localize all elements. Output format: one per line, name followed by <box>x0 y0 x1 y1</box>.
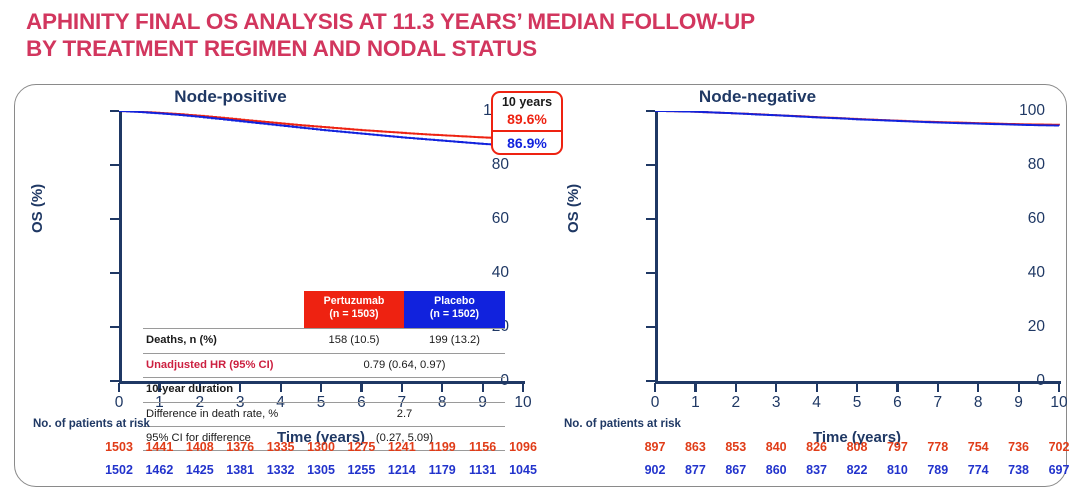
y-tick-60 <box>110 218 119 220</box>
at-risk-value: 853 <box>713 440 759 454</box>
at-risk-value: 702 <box>1036 440 1080 454</box>
at-risk-title-right: No. of patients at risk <box>564 418 681 430</box>
at-risk-value: 1241 <box>379 440 425 454</box>
at-risk-title-left: No. of patients at risk <box>33 418 150 430</box>
y-tick-40 <box>646 272 655 274</box>
at-risk-value: 1255 <box>338 463 384 477</box>
x-tick-8 <box>977 383 979 392</box>
at-risk-value: 867 <box>713 463 759 477</box>
at-risk-row-placebo-right: 902877867860837822810789774738697 <box>655 463 1059 481</box>
table-row: Difference in death rate, %2.7 <box>143 402 505 427</box>
x-tick-label-7: 7 <box>923 394 953 412</box>
y-axis-label-left: OS (%) <box>29 184 46 233</box>
table-cell-span: 2.7 <box>304 408 505 420</box>
at-risk-row-pertuzumab-right: 897863853840826808797778754736702 <box>655 440 1059 458</box>
col-n: (n = 1503) <box>304 308 404 321</box>
km-curves-node-negative <box>655 111 1061 383</box>
table-col-pertuzumab-left: Pertuzumab (n = 1503) <box>304 291 404 328</box>
x-tick-4 <box>816 383 818 392</box>
at-risk-value: 778 <box>915 440 961 454</box>
page-title-line-2: BY TREATMENT REGIMEN AND NODAL STATUS <box>26 35 1056 62</box>
chart-title-node-negative: Node-negative <box>494 87 1021 107</box>
at-risk-value: 1502 <box>96 463 142 477</box>
page-title-line-1: APHINITY FINAL OS ANALYSIS AT 11.3 YEARS… <box>26 9 755 34</box>
at-risk-value: 1408 <box>177 440 223 454</box>
at-risk-value: 1332 <box>258 463 304 477</box>
x-tick-label-10: 10 <box>1044 394 1074 412</box>
y-tick-0 <box>646 380 655 382</box>
data-table-body-left: Deaths, n (%)158 (10.5)199 (13.2)Unadjus… <box>143 328 505 451</box>
callout-10-years-node-positive: 10 years 89.6% 86.9% <box>491 91 563 155</box>
at-risk-value: 1381 <box>217 463 263 477</box>
table-cell-span: 0.79 (0.64, 0.97) <box>304 359 505 371</box>
at-risk-value: 1275 <box>338 440 384 454</box>
at-risk-value: 1425 <box>177 463 223 477</box>
at-risk-value: 774 <box>955 463 1001 477</box>
page-title: APHINITY FINAL OS ANALYSIS AT 11.3 YEARS… <box>26 8 1056 62</box>
y-tick-0 <box>110 380 119 382</box>
callout-pertuzumab-value-left: 89.6% <box>493 110 561 132</box>
at-risk-row-pertuzumab-left: 1503144114081376133513001275124111991156… <box>119 440 523 458</box>
at-risk-value: 1300 <box>298 440 344 454</box>
x-tick-10 <box>522 383 524 392</box>
y-tick-100 <box>646 110 655 112</box>
at-risk-value: 1199 <box>419 440 465 454</box>
chart-node-negative: Node-negative OS (%) 020406080100 012345… <box>532 85 1059 488</box>
at-risk-value: 1376 <box>217 440 263 454</box>
callout-header-left: 10 years <box>493 93 561 110</box>
at-risk-value: 736 <box>996 440 1042 454</box>
table-row-label: Difference in death rate, % <box>146 408 278 420</box>
at-risk-value: 863 <box>672 440 718 454</box>
y-tick-40 <box>110 272 119 274</box>
at-risk-value: 1503 <box>96 440 142 454</box>
at-risk-value: 1441 <box>136 440 182 454</box>
at-risk-value: 840 <box>753 440 799 454</box>
km-line-placebo <box>119 111 523 146</box>
table-row: 10-year duration <box>143 377 505 402</box>
at-risk-value: 822 <box>834 463 880 477</box>
table-row-label: 10-year duration <box>146 383 233 395</box>
table-col-placebo-left: Placebo (n = 1502) <box>404 291 505 328</box>
table-cell-pertuzumab: 158 (10.5) <box>304 334 404 346</box>
at-risk-value: 1305 <box>298 463 344 477</box>
y-tick-80 <box>646 164 655 166</box>
y-tick-80 <box>110 164 119 166</box>
data-table-node-positive: Pertuzumab (n = 1503) Placebo (n = 1502)… <box>143 291 505 451</box>
at-risk-value: 697 <box>1036 463 1080 477</box>
at-risk-row-placebo-left: 1502146214251381133213051255121411791131… <box>119 463 523 481</box>
at-risk-value: 797 <box>874 440 920 454</box>
at-risk-value: 1179 <box>419 463 465 477</box>
col-n: (n = 1502) <box>404 308 505 321</box>
at-risk-value: 808 <box>834 440 880 454</box>
x-tick-6 <box>896 383 898 392</box>
table-cell-placebo: 199 (13.2) <box>404 334 505 346</box>
at-risk-value: 810 <box>874 463 920 477</box>
at-risk-value: 789 <box>915 463 961 477</box>
table-row-label: Deaths, n (%) <box>146 334 217 346</box>
at-risk-value: 738 <box>996 463 1042 477</box>
at-risk-value: 1462 <box>136 463 182 477</box>
x-tick-9 <box>1018 383 1020 392</box>
y-tick-100 <box>110 110 119 112</box>
x-tick-5 <box>856 383 858 392</box>
at-risk-value: 902 <box>632 463 678 477</box>
at-risk-value: 1131 <box>460 463 506 477</box>
km-line-placebo <box>655 111 1059 126</box>
x-tick-label-1: 1 <box>680 394 710 412</box>
at-risk-value: 1214 <box>379 463 425 477</box>
x-tick-7 <box>937 383 939 392</box>
y-tick-20 <box>110 326 119 328</box>
x-tick-3 <box>775 383 777 392</box>
x-tick-label-8: 8 <box>963 394 993 412</box>
charts-panel: Node-positive OS (%) 020406080100 012345… <box>14 84 1067 487</box>
x-tick-2 <box>735 383 737 392</box>
x-tick-1 <box>694 383 696 392</box>
x-tick-label-2: 2 <box>721 394 751 412</box>
at-risk-value: 837 <box>794 463 840 477</box>
table-row-label: Unadjusted HR (95% CI) <box>146 359 273 371</box>
y-axis-label-right: OS (%) <box>565 184 582 233</box>
table-row: Unadjusted HR (95% CI)0.79 (0.64, 0.97) <box>143 353 505 378</box>
col-label: Placebo <box>404 295 505 308</box>
x-tick-label-5: 5 <box>842 394 872 412</box>
chart-node-positive: Node-positive OS (%) 020406080100 012345… <box>15 85 542 488</box>
x-tick-label-9: 9 <box>1004 394 1034 412</box>
data-table-header-left: Pertuzumab (n = 1503) Placebo (n = 1502) <box>143 291 505 328</box>
at-risk-value: 1156 <box>460 440 506 454</box>
col-label: Pertuzumab <box>304 295 404 308</box>
x-tick-label-0: 0 <box>640 394 670 412</box>
plot-area-node-negative: 020406080100 012345678910 Time (years) <box>655 111 1059 381</box>
x-tick-label-4: 4 <box>802 394 832 412</box>
table-row: Deaths, n (%)158 (10.5)199 (13.2) <box>143 328 505 353</box>
at-risk-value: 1335 <box>258 440 304 454</box>
x-tick-0 <box>118 383 120 392</box>
y-tick-60 <box>646 218 655 220</box>
at-risk-value: 826 <box>794 440 840 454</box>
x-tick-0 <box>654 383 656 392</box>
x-tick-10 <box>1058 383 1060 392</box>
callout-placebo-value-left: 86.9% <box>493 132 561 153</box>
x-tick-label-0: 0 <box>104 394 134 412</box>
at-risk-value: 860 <box>753 463 799 477</box>
x-tick-label-3: 3 <box>761 394 791 412</box>
slide-root: APHINITY FINAL OS ANALYSIS AT 11.3 YEARS… <box>0 0 1080 501</box>
at-risk-value: 877 <box>672 463 718 477</box>
y-tick-20 <box>646 326 655 328</box>
at-risk-value: 754 <box>955 440 1001 454</box>
x-tick-label-6: 6 <box>882 394 912 412</box>
at-risk-value: 897 <box>632 440 678 454</box>
chart-title-node-positive: Node-positive <box>0 87 494 107</box>
